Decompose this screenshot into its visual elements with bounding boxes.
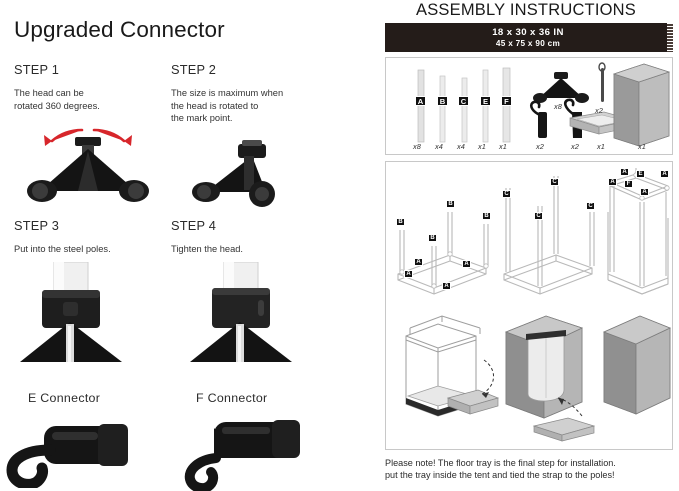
assembly-instructions-panel: ASSEMBLY INSTRUCTIONS 18 x 30 x 36 IN 45… [379,0,679,491]
step-3-heading: STEP 3 [14,218,174,233]
part-count-f-connector: x2 [571,142,579,151]
frame-label-a-2: A [404,270,413,278]
step-1-description: The head can be rotated 360 degrees. [14,87,164,112]
installation-note: Please note! The floor tray is the final… [385,458,675,481]
assembly-diagram-box: B B B B A A A A C C C C A A E F A A [385,161,673,450]
connector-3way-icon [18,125,158,210]
stage-cover-over-frame [506,316,594,441]
part-count-b: x4 [435,142,443,151]
part-count-a: x8 [413,142,421,151]
frame-label-top-e: E [636,170,645,178]
page-title: Upgraded Connector [14,17,225,43]
part-badge-c: C [458,96,469,106]
frame-label-b-2: B [446,200,455,208]
part-count-strap: x2 [595,106,603,115]
step-4-description: Tighten the head. [171,243,331,256]
part-count-cover: x1 [638,142,646,151]
stage-upright-poles [504,176,594,294]
frame-label-b-1: B [396,218,405,226]
frame-label-b-4: B [482,212,491,220]
f-connector-label: F Connector [196,391,267,405]
frame-label-c-1: C [502,190,511,198]
assembly-title: ASSEMBLY INSTRUCTIONS [379,1,673,20]
stage-top-frame [608,168,668,294]
e-connector-label: E Connector [28,391,100,405]
step-4-heading: STEP 4 [171,218,331,233]
frame-label-top-f: F [624,180,633,188]
e-connector-hook-icon [6,416,151,488]
parts-list-box: A B C E F x8 x4 x4 x1 x1 x2 x2 x8 x2 x1 … [385,57,673,155]
frame-label-c-4: C [586,202,595,210]
frame-label-top-a-4: A [640,188,649,196]
part-count-three-way: x8 [554,102,562,111]
frame-label-c-3: C [550,178,559,186]
part-count-tray: x1 [597,142,605,151]
connector-rotated-icon [176,136,306,214]
part-count-e: x1 [478,142,486,151]
frame-label-top-a-3: A [660,170,669,178]
part-badge-e: E [480,96,491,106]
size-banner: 18 x 30 x 36 IN 45 x 75 x 90 cm [385,23,671,52]
frame-label-a-4: A [442,282,451,290]
part-count-c: x4 [457,142,465,151]
frame-label-a-1: A [414,258,423,266]
part-count-e-connector: x2 [536,142,544,151]
final-assembly-stages [386,298,672,443]
step-1-heading: STEP 1 [14,62,164,77]
upgraded-connector-panel: Upgraded Connector STEP 1 The head can b… [0,0,372,491]
step-2-block: STEP 2 The size is maximum when the head… [171,62,331,125]
parts-illustrations [386,58,672,154]
stage-tray-into-frame [406,316,498,416]
f-connector-hook-icon [176,416,321,491]
step-2-heading: STEP 2 [171,62,331,77]
size-centimeters: 45 x 75 x 90 cm [496,39,560,48]
step-2-description: The size is maximum when the head is rot… [171,87,331,125]
part-badge-f: F [501,96,512,106]
banner-stripe-decoration [667,23,673,52]
frame-label-b-3: B [428,234,437,242]
connector-on-pole-icon [16,262,128,368]
frame-label-top-a-1: A [620,168,629,176]
connector-tightened-icon [186,262,298,368]
step-3-description: Put into the steel poles. [14,243,174,256]
stage-completed-tent [604,316,670,414]
step-3-block: STEP 3 Put into the steel poles. [14,218,174,256]
part-count-f: x1 [499,142,507,151]
frame-label-top-a-2: A [608,178,617,186]
part-badge-b: B [437,96,448,106]
step-4-block: STEP 4 Tighten the head. [171,218,331,256]
size-inches: 18 x 30 x 36 IN [492,27,564,38]
frame-label-c-2: C [534,212,543,220]
part-badge-a: A [415,96,426,106]
step-1-block: STEP 1 The head can be rotated 360 degre… [14,62,164,112]
frame-label-a-3: A [462,260,471,268]
